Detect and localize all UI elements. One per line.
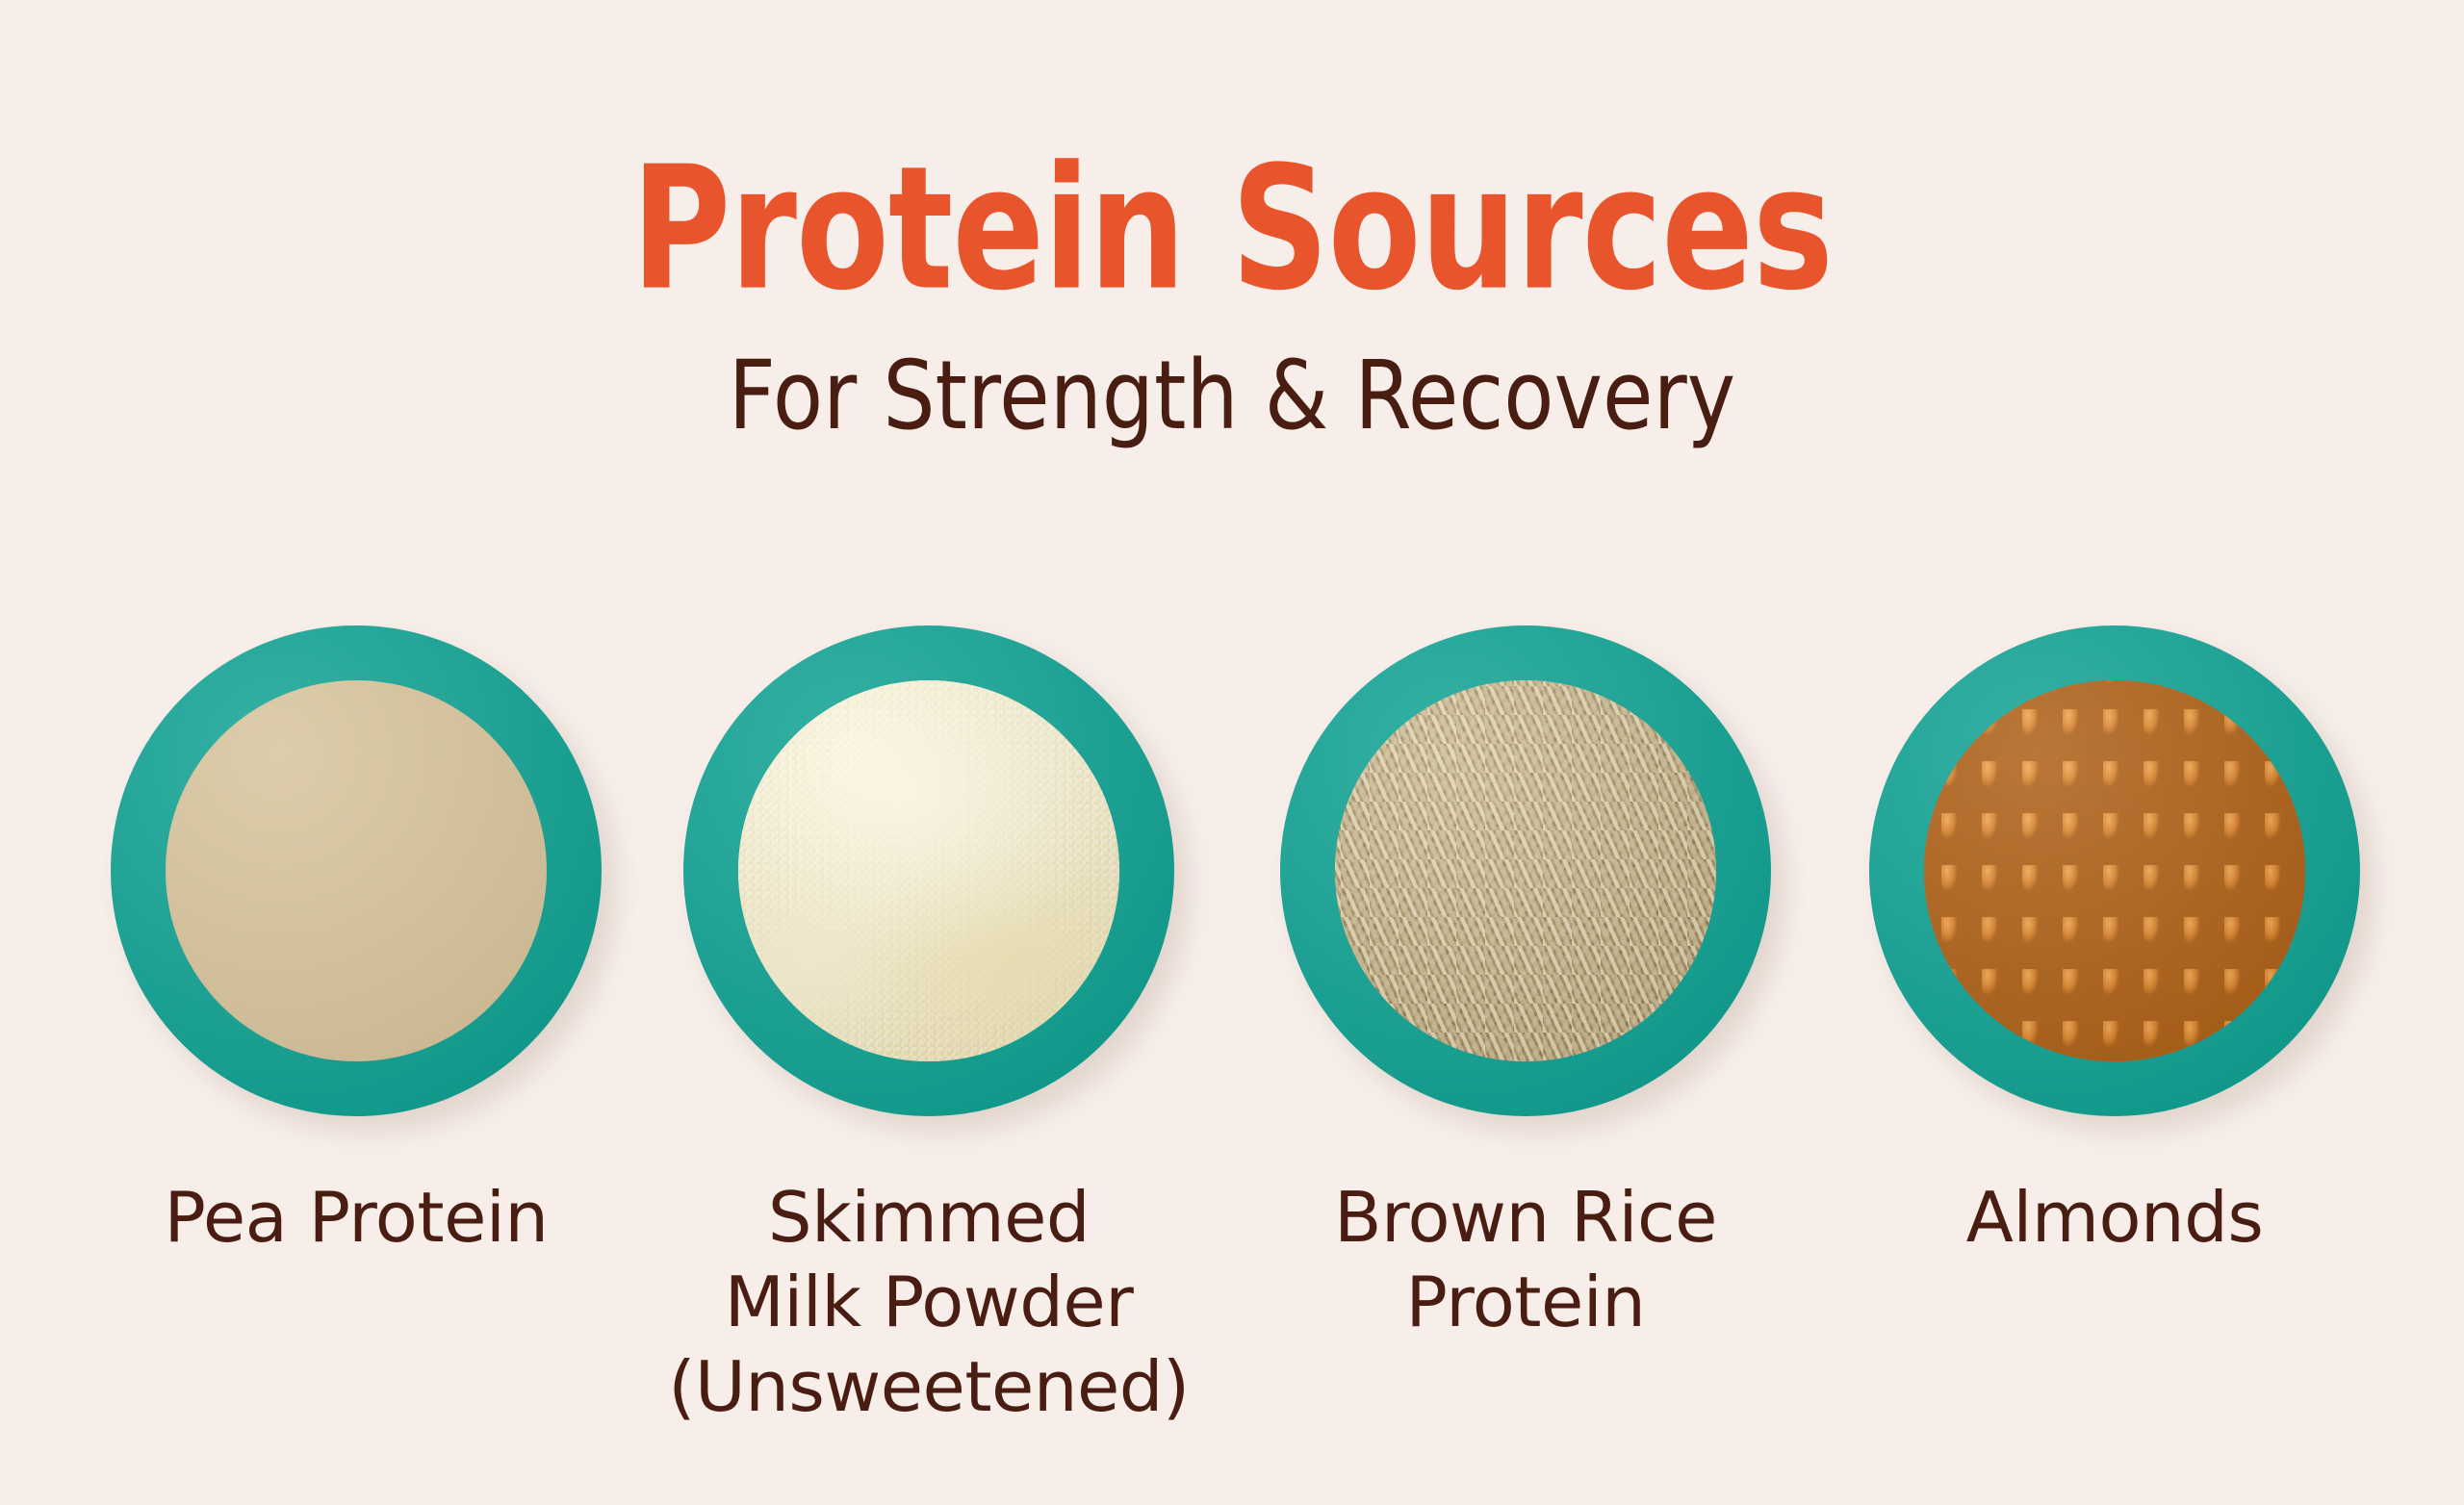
page-title: Protein Sources — [74, 144, 2390, 315]
bowl-contents-milk-powder — [738, 680, 1119, 1061]
bowl-rim — [1869, 625, 2360, 1116]
bowl-contents-dried-peas — [166, 680, 547, 1061]
header-block: Protein Sources For Strength & Recovery — [0, 144, 2464, 433]
protein-item-pea-protein: Pea Protein — [58, 625, 654, 1261]
brown-rice-texture — [1335, 680, 1716, 1061]
protein-sources-infographic: Protein Sources For Strength & Recovery … — [0, 0, 2464, 1505]
milk-powder-texture — [738, 680, 1119, 1061]
bowl-almonds — [1869, 625, 2360, 1116]
bowl-rim — [683, 625, 1174, 1116]
protein-items-row: Pea Protein Skimmed Milk Powder (Unsweet… — [0, 625, 2464, 1492]
protein-item-brown-rice-protein: Brown Rice Protein — [1227, 625, 1824, 1345]
item-label-pea-protein: Pea Protein — [58, 1176, 654, 1261]
bowl-contents-brown-rice — [1335, 680, 1716, 1061]
almonds-texture — [1924, 680, 2305, 1061]
bowl-pea-protein — [111, 625, 602, 1116]
bowl-brown-rice-protein — [1280, 625, 1771, 1116]
bowl-rim — [111, 625, 602, 1116]
item-label-skimmed-milk-powder: Skimmed Milk Powder (Unsweetened) — [630, 1176, 1227, 1429]
item-label-brown-rice-protein: Brown Rice Protein — [1227, 1176, 1824, 1345]
protein-item-almonds: Almonds — [1816, 625, 2413, 1261]
bowl-skimmed-milk-powder — [683, 625, 1174, 1116]
page-subtitle: For Strength & Recovery — [37, 348, 2426, 444]
protein-item-skimmed-milk-powder: Skimmed Milk Powder (Unsweetened) — [630, 625, 1227, 1429]
dried-peas-texture — [166, 680, 547, 1061]
bowl-rim — [1280, 625, 1771, 1116]
bowl-contents-almonds — [1924, 680, 2305, 1061]
item-label-almonds: Almonds — [1816, 1176, 2413, 1261]
